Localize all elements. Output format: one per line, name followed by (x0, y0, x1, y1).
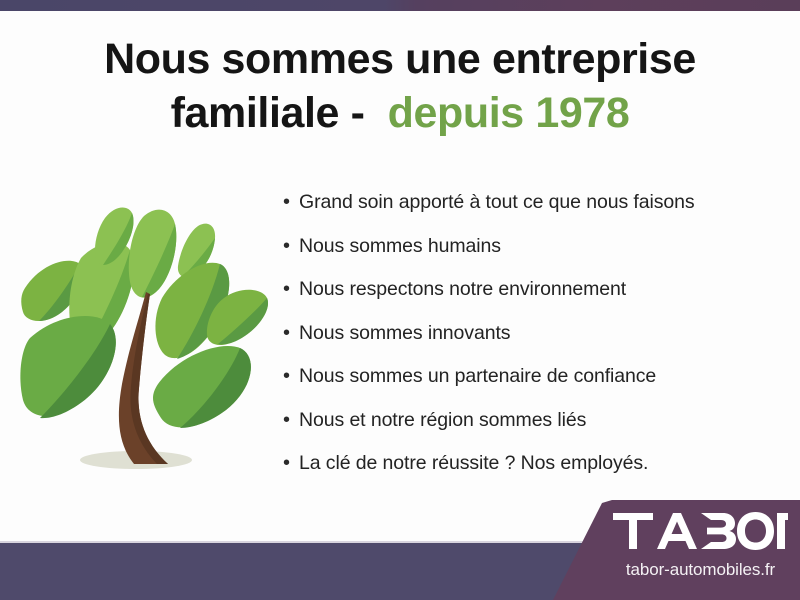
tabor-logo-icon (613, 511, 788, 551)
page-title-plain: familiale (171, 89, 339, 137)
list-item: • Nous sommes humains (283, 234, 783, 260)
bullet-marker-icon: • (283, 277, 299, 302)
list-item-label: Nous sommes un partenaire de confiance (299, 364, 656, 389)
brand-url: tabor-automobiles.fr (613, 559, 788, 580)
benefits-list: • Grand soin apporté à tout ce que nous … (283, 190, 783, 495)
bullet-marker-icon: • (283, 364, 299, 389)
page-title: Nous sommes une entreprise familiale - d… (0, 32, 800, 140)
page-title-accent: depuis 1978 (388, 89, 630, 137)
list-item: • Nous sommes innovants (283, 321, 783, 347)
list-item-label: La clé de notre réussite ? Nos employés. (299, 451, 648, 476)
list-item: • La clé de notre réussite ? Nos employé… (283, 451, 783, 477)
leaf-right-lower (153, 346, 251, 428)
leaf-left-lower (20, 316, 115, 418)
list-item: • Grand soin apporté à tout ce que nous … (283, 190, 783, 216)
bullet-marker-icon: • (283, 234, 299, 259)
bullet-marker-icon: • (283, 321, 299, 346)
bullet-marker-icon: • (283, 408, 299, 433)
list-item-label: Grand soin apporté à tout ce que nous fa… (299, 190, 695, 215)
tree-illustration (18, 188, 274, 480)
list-item-label: Nous et notre région sommes liés (299, 408, 586, 433)
top-accent-bar (0, 0, 800, 11)
bullet-marker-icon: • (283, 190, 299, 215)
slide-canvas: Nous sommes une entreprise familiale - d… (0, 0, 800, 600)
leaf-top-center (129, 210, 177, 298)
list-item-label: Nous sommes humains (299, 234, 501, 259)
list-item-label: Nous sommes innovants (299, 321, 510, 346)
page-title-line-1: Nous sommes une entreprise (0, 32, 800, 86)
bullet-marker-icon: • (283, 451, 299, 476)
page-title-line-2: familiale - depuis 1978 (0, 86, 800, 140)
list-item: • Nous sommes un partenaire de confiance (283, 364, 783, 390)
list-item: • Nous respectons notre environnement (283, 277, 783, 303)
list-item: • Nous et notre région sommes liés (283, 408, 783, 434)
page-title-dash: - (351, 89, 365, 137)
list-item-label: Nous respectons notre environnement (299, 277, 626, 302)
